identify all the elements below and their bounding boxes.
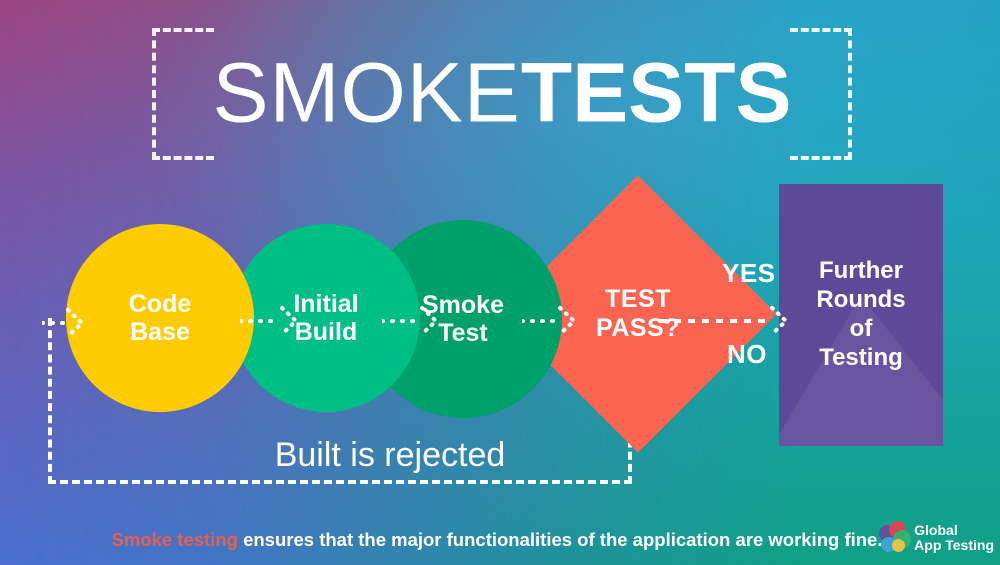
brand-logo-line1: Global [914, 523, 994, 538]
page-title-light: SMOKE [212, 45, 520, 139]
flow-node-smoke-test-line2: Test [438, 319, 488, 347]
page-title: SMOKETESTS [152, 50, 852, 134]
title-frame: SMOKETESTS [152, 28, 852, 160]
rejection-loop-label: Built is rejected [180, 436, 600, 475]
arrow-glyph [42, 305, 88, 341]
logo-circle-yellow-icon [892, 539, 905, 552]
brand-logo-text: Global App Testing [914, 523, 994, 553]
flow-node-code-base[interactable]: Code Base [66, 224, 254, 412]
caption-highlight-text: Smoke testing [112, 529, 238, 550]
brand-logo[interactable]: Global App Testing [879, 521, 994, 555]
arrow-glyph [240, 303, 304, 339]
connector-arrow-entry-icon [42, 305, 88, 341]
flow-node-further-rounds-label: Further Rounds of Testing [779, 184, 943, 446]
caption-bar: Smoke testing ensures that the major fun… [0, 529, 1000, 551]
connector-arrow-decision-to-further-rounds-icon [660, 303, 792, 339]
connector-arrow-code-to-build-icon [240, 303, 304, 339]
branch-label-yes: YES [722, 258, 776, 289]
flow-node-further-rounds-line1: Further [819, 257, 903, 284]
brand-logo-mark-icon [879, 521, 913, 555]
infographic-canvas: SMOKETESTS Code Base Initial Build Smoke… [0, 0, 1000, 565]
flow-node-further-rounds-text: Further Rounds of Testing [816, 257, 905, 372]
flow-node-further-rounds-line2: Rounds [816, 286, 905, 313]
connector-arrow-build-to-smoke-icon [382, 303, 444, 339]
connector-arrow-smoke-to-decision-icon [522, 303, 582, 339]
flow-node-initial-build-line2: Build [295, 318, 358, 346]
arrow-glyph [660, 303, 792, 339]
flow-node-code-base-line2: Base [130, 318, 190, 346]
arrow-glyph [382, 303, 444, 339]
flow-node-further-rounds-line3: of [850, 315, 873, 342]
caption-rest-text: ensures that the major functionalities o… [238, 529, 883, 550]
arrow-glyph [522, 303, 582, 339]
flow-node-code-base-line1: Code [129, 290, 192, 318]
page-title-bold: TESTS [521, 45, 792, 139]
branch-label-no: NO [727, 339, 767, 370]
brand-logo-line2: App Testing [914, 538, 994, 553]
flow-node-further-rounds-line4: Testing [819, 344, 903, 371]
flow-node-code-base-label: Code Base [129, 290, 192, 346]
